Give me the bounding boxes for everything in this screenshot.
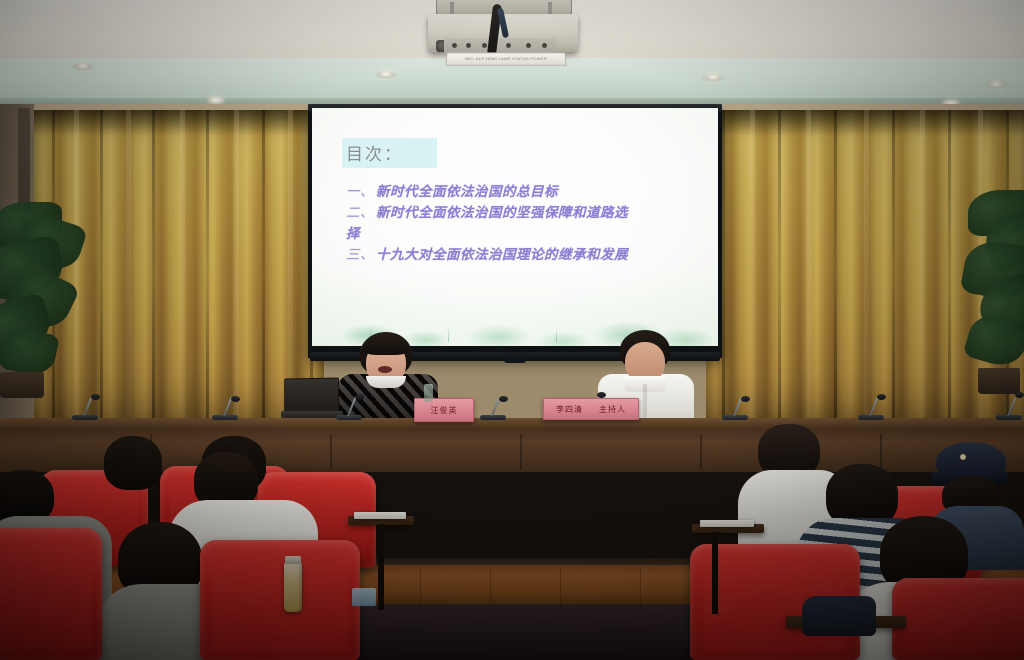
- curtain-fold: [206, 110, 209, 440]
- slide-item-number: 三、: [346, 247, 374, 263]
- audience-seat-foreground: [200, 540, 360, 660]
- slide-deco-stem: [448, 326, 449, 342]
- presenter-laptop-base: [281, 411, 343, 418]
- slide-deco-stem: [556, 326, 557, 342]
- tea-bottle: [284, 562, 302, 612]
- curtain-highlight: [806, 110, 811, 440]
- microphone-gooseneck: [347, 397, 356, 416]
- slide-item-number: 二、: [346, 205, 374, 221]
- desk-paper: [354, 512, 406, 519]
- curtain-fold: [948, 110, 951, 440]
- slide-item-text: 新时代全面依法治国的坚强保障和道路选: [376, 205, 628, 221]
- lecture-hall-photo: NEC DLP HDMI LAMP STATUS POWER: [0, 0, 1024, 660]
- downlight-1: [75, 63, 91, 70]
- projector-port-3: [482, 43, 487, 48]
- speaker-nameplate: 汪俊英: [414, 398, 474, 422]
- curtain-highlight: [920, 110, 925, 440]
- projector-port-1: [452, 43, 457, 48]
- curtain-fold: [152, 110, 155, 440]
- curtain-highlight: [234, 110, 239, 440]
- plant-right: [962, 186, 1024, 402]
- water-glass: [424, 384, 433, 402]
- curtain-highlight: [126, 110, 131, 440]
- stage-grain: [490, 568, 491, 604]
- moderator-name-text: 李四清: [556, 404, 583, 415]
- microphone: [996, 392, 1024, 420]
- curtain-highlight: [864, 110, 869, 440]
- microphone-capsule: [231, 396, 240, 402]
- curtain-fold: [778, 110, 781, 440]
- microphone-gooseneck: [83, 397, 92, 416]
- microphone-capsule: [91, 394, 100, 400]
- draped-jacket: [802, 596, 876, 636]
- microphone-capsule: [741, 396, 750, 402]
- slide-item-text: 择: [346, 226, 360, 242]
- microphone: [722, 396, 752, 420]
- downlight-3: [705, 74, 721, 81]
- projector-port-2: [466, 43, 471, 48]
- slide-list-item-continued: 择: [346, 224, 696, 245]
- seat-cushion: [904, 586, 1024, 653]
- projector-label: NEC DLP HDMI LAMP STATUS POWER: [445, 52, 566, 65]
- slide-item-text: 新时代全面依法治国的总目标: [376, 184, 558, 200]
- speaker-nameplate-text: 汪俊英: [431, 405, 458, 416]
- curtain-highlight: [750, 110, 755, 440]
- microphone: [72, 394, 102, 420]
- microphone: [480, 396, 510, 420]
- microphone: [336, 394, 366, 420]
- table-seam: [330, 434, 332, 470]
- moderator-nameplate: 李四清 主持人: [543, 398, 639, 420]
- curtain-fold: [722, 110, 725, 440]
- screen-surface: 目次： 一、新时代全面依法治国的总目标 二、新时代全面依法治国的坚强保障和道路选…: [312, 108, 718, 346]
- moderator-role-text: 主持人: [599, 404, 626, 415]
- table-seam: [700, 434, 702, 470]
- curtain-fold: [834, 110, 837, 440]
- projector-port-5: [526, 43, 531, 48]
- plant-pot-left: [0, 372, 44, 398]
- desk-paper: [700, 520, 754, 527]
- speaker-collar: [366, 376, 406, 388]
- slide-heading: 目次：: [342, 138, 437, 168]
- slide-item-text: 十九大对全面依法治国理论的继承和发展: [376, 247, 628, 263]
- tea-bottle-cap: [285, 556, 301, 564]
- curtain-fold: [892, 110, 895, 440]
- downlight-5: [208, 97, 224, 104]
- slide-list-item: 一、新时代全面依法治国的总目标: [346, 182, 696, 203]
- downlight-2: [378, 71, 394, 78]
- microphone-gooseneck: [869, 397, 878, 416]
- curtain-highlight: [180, 110, 185, 440]
- curtain-fold: [262, 110, 265, 440]
- plant-left: [0, 196, 98, 396]
- screen-pull-tab: [504, 358, 526, 363]
- projector-port-6: [542, 43, 547, 48]
- projection-screen: 目次： 一、新时代全面依法治国的总目标 二、新时代全面依法治国的坚强保障和道路选…: [308, 104, 722, 366]
- stage-grain: [560, 568, 561, 604]
- microphone: [858, 394, 888, 420]
- slide-item-number: 一、: [346, 184, 374, 200]
- microphone-capsule: [877, 394, 886, 400]
- desk-leg: [378, 524, 384, 610]
- microphone: [212, 396, 242, 420]
- desk-leg: [712, 532, 718, 614]
- slide-outline-list: 一、新时代全面依法治国的总目标 二、新时代全面依法治国的坚强保障和道路选 择 三…: [346, 182, 696, 266]
- audience-seat-foreground: [0, 528, 102, 660]
- downlight-4: [988, 81, 1004, 88]
- projector-port-4: [506, 43, 511, 48]
- stage-grain: [640, 568, 641, 604]
- microphone-capsule: [355, 394, 364, 400]
- audience-device-screen: [352, 588, 376, 606]
- seat-cushion: [213, 552, 347, 650]
- table-seam: [520, 434, 522, 470]
- plant-pot-right: [978, 368, 1020, 394]
- audience-cap-logo: [960, 454, 966, 460]
- stage-grain: [420, 568, 421, 604]
- microphone-gooseneck: [1007, 397, 1016, 416]
- slide-list-item: 三、十九大对全面依法治国理论的继承和发展: [346, 245, 696, 266]
- audience-seat-foreground: [892, 578, 1024, 660]
- curtain-fold: [100, 110, 103, 440]
- slide-list-item: 二、新时代全面依法治国的坚强保障和道路选: [346, 203, 696, 224]
- speaker-mouth: [378, 366, 392, 373]
- microphone-capsule: [499, 396, 508, 402]
- microphone-capsule: [1015, 392, 1024, 398]
- projector: NEC DLP HDMI LAMP STATUS POWER: [428, 0, 578, 62]
- seat-cushion: [0, 541, 92, 649]
- slide-heading-wrapper: 目次：: [342, 138, 437, 168]
- speaker-hair-fringe: [363, 338, 409, 355]
